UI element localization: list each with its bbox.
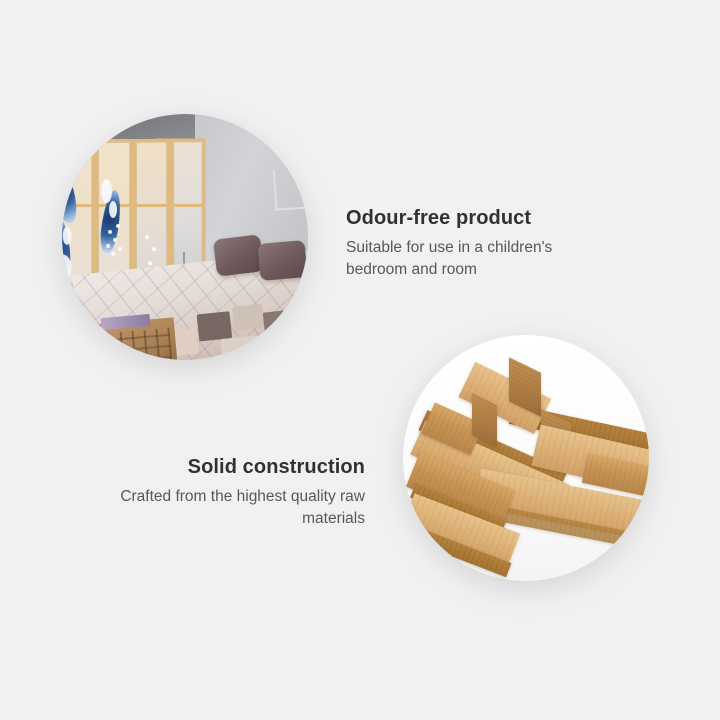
pillow-left [212, 234, 263, 276]
timber-photo-medallion [403, 335, 649, 581]
feature-description-solid-construction: Crafted from the highest quality raw mat… [108, 486, 365, 531]
feature-title-odour-free: Odour-free product [346, 206, 596, 231]
feature-description-odour-free: Suitable for use in a children's bedroom… [346, 237, 596, 282]
divider-panel-1 [62, 139, 95, 286]
wall-trim [272, 166, 308, 211]
feature-block-solid-construction: Solid construction Crafted from the high… [108, 455, 365, 531]
divider-panel-3 [133, 138, 170, 286]
feature-title-solid-construction: Solid construction [108, 455, 365, 480]
infographic-stage: Odour-free product Suitable for use in a… [0, 0, 720, 720]
feature-block-odour-free: Odour-free product Suitable for use in a… [346, 206, 596, 282]
bedroom-photo-medallion [62, 114, 308, 360]
divider-panel-2 [95, 139, 133, 287]
pillow-right [257, 240, 307, 281]
